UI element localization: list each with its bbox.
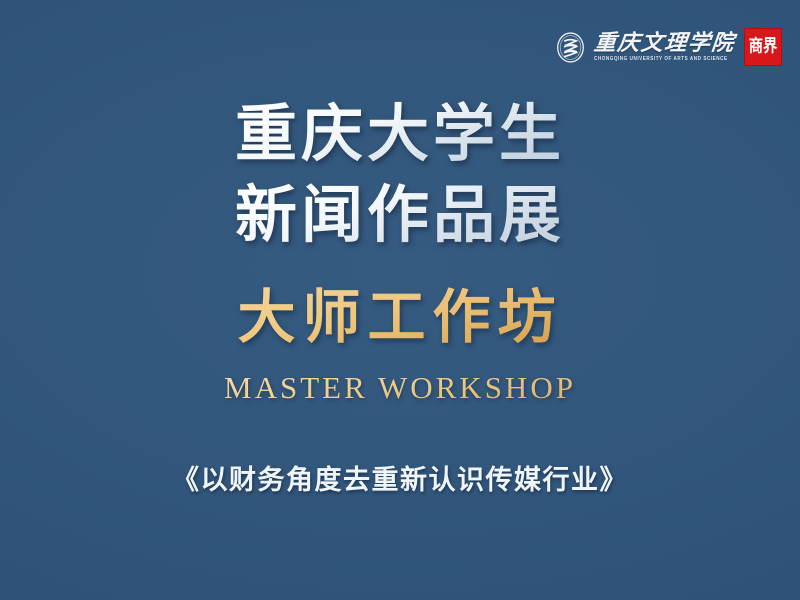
headline-line-2: 新闻作品展 bbox=[235, 177, 565, 256]
circular-wave-seal-icon bbox=[554, 31, 587, 64]
slide-subtitle: 《以财务角度去重新认识传媒行业》 bbox=[172, 458, 628, 497]
university-name-en: CHONGQING UNIVERSITY OF ARTS AND SCIENCE bbox=[594, 57, 735, 62]
headline-line-1: 重庆大学生 bbox=[235, 96, 565, 175]
feature-title-en: MASTER WORKSHOP bbox=[224, 370, 576, 406]
logo-bar: 重庆文理学院 CHONGQING UNIVERSITY OF ARTS AND … bbox=[554, 28, 782, 66]
partner-badge: 商界 bbox=[744, 28, 782, 66]
presentation-slide: 重庆文理学院 CHONGQING UNIVERSITY OF ARTS AND … bbox=[0, 0, 800, 600]
university-name-cn: 重庆文理学院 bbox=[593, 32, 736, 54]
university-logo: 重庆文理学院 CHONGQING UNIVERSITY OF ARTS AND … bbox=[554, 31, 735, 64]
feature-title-cn: 大师工作坊 bbox=[237, 283, 562, 353]
partner-badge-label: 商界 bbox=[749, 38, 778, 55]
slide-content: 重庆大学生 新闻作品展 大师工作坊 MASTER WORKSHOP 《以财务角度… bbox=[0, 96, 800, 497]
university-name-block: 重庆文理学院 CHONGQING UNIVERSITY OF ARTS AND … bbox=[594, 32, 735, 62]
